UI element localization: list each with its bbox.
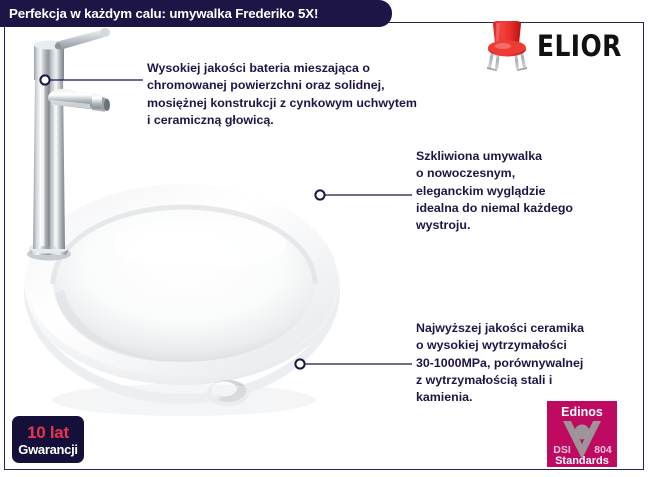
edinos-brand-text: Edinos (561, 405, 603, 419)
callout-ceramic-line-3: 30-1000MPa, porównywalnej (416, 355, 648, 372)
callout-ceramic-line-2: o wysokiej wytrzymałości (416, 337, 648, 354)
brand-logo: ELIOR (484, 20, 636, 72)
callout-ceramic-line-1: Najwyższej jakości ceramika (416, 320, 648, 337)
washbasin-graphic (24, 184, 340, 416)
warranty-years: 10 lat (27, 424, 69, 441)
header-banner: Perfekcja w każdym calu: umywalka Freder… (0, 0, 392, 27)
callout-glaze-line-2: o nowoczesnym, (416, 165, 646, 182)
callout-glaze-line-5: wystroju. (416, 217, 646, 234)
page-title: Perfekcja w każdym calu: umywalka Freder… (9, 6, 318, 21)
product-infographic: Perfekcja w każdym calu: umywalka Freder… (0, 0, 650, 477)
callout-ceramic: Najwyższej jakości ceramika o wysokiej w… (416, 320, 648, 407)
red-chair-icon (484, 20, 530, 72)
warranty-label: Gwarancji (18, 443, 77, 456)
callout-faucet-line-3: mosiężnej konstrukcji z cynkowym uchwyte… (147, 95, 507, 112)
callout-faucet: Wysokiej jakości bateria mieszająca o ch… (147, 60, 507, 129)
warranty-badge: 10 lat Gwarancji (12, 416, 84, 463)
callout-glaze: Szkliwiona umywalka o nowoczesnym, elega… (416, 148, 646, 235)
callout-glaze-line-1: Szkliwiona umywalka (416, 148, 646, 165)
callout-faucet-line-4: i ceramiczną głowicą. (147, 112, 507, 129)
callout-faucet-line-1: Wysokiej jakości bateria mieszająca o (147, 60, 507, 77)
callout-faucet-line-2: chromowanej powierzchni oraz solidnej, (147, 77, 507, 94)
edinos-certification-badge: Edinos DSI 804 Standards (547, 401, 617, 467)
chevron-dot (575, 425, 590, 440)
callout-ceramic-line-4: z wytrzymałością stali i (416, 372, 648, 389)
faucet-lever (55, 28, 110, 50)
edinos-standards-text: Standards (555, 455, 609, 467)
callout-glaze-line-4: idealna do niemal każdego (416, 200, 646, 217)
brand-name: ELIOR (537, 32, 622, 61)
callout-glaze-line-3: eleganckim wyglądzie (416, 183, 646, 200)
